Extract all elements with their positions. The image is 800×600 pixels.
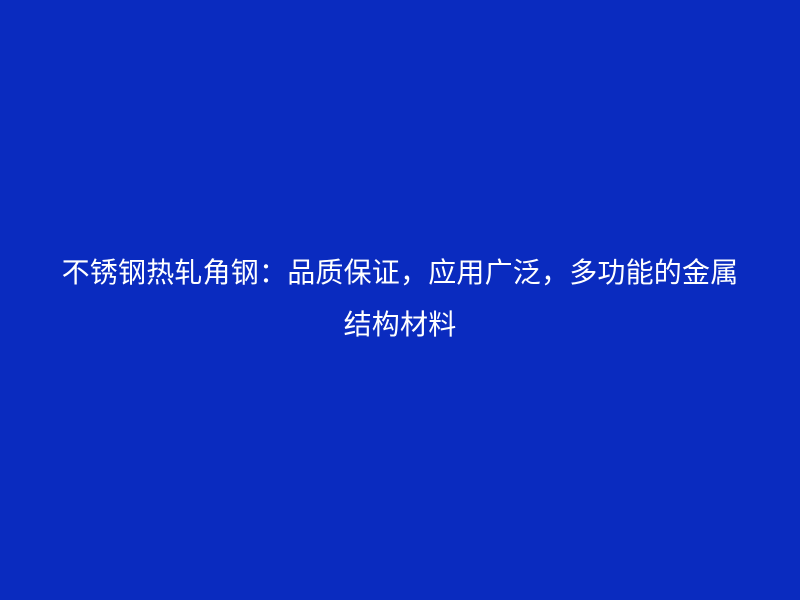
page-title: 不锈钢热轧角钢：品质保证，应用广泛，多功能的金属结构材料 [50,247,750,351]
title-block: 不锈钢热轧角钢：品质保证，应用广泛，多功能的金属结构材料 [50,247,750,351]
title-banner: 不锈钢热轧角钢：品质保证，应用广泛，多功能的金属结构材料 [0,0,800,600]
